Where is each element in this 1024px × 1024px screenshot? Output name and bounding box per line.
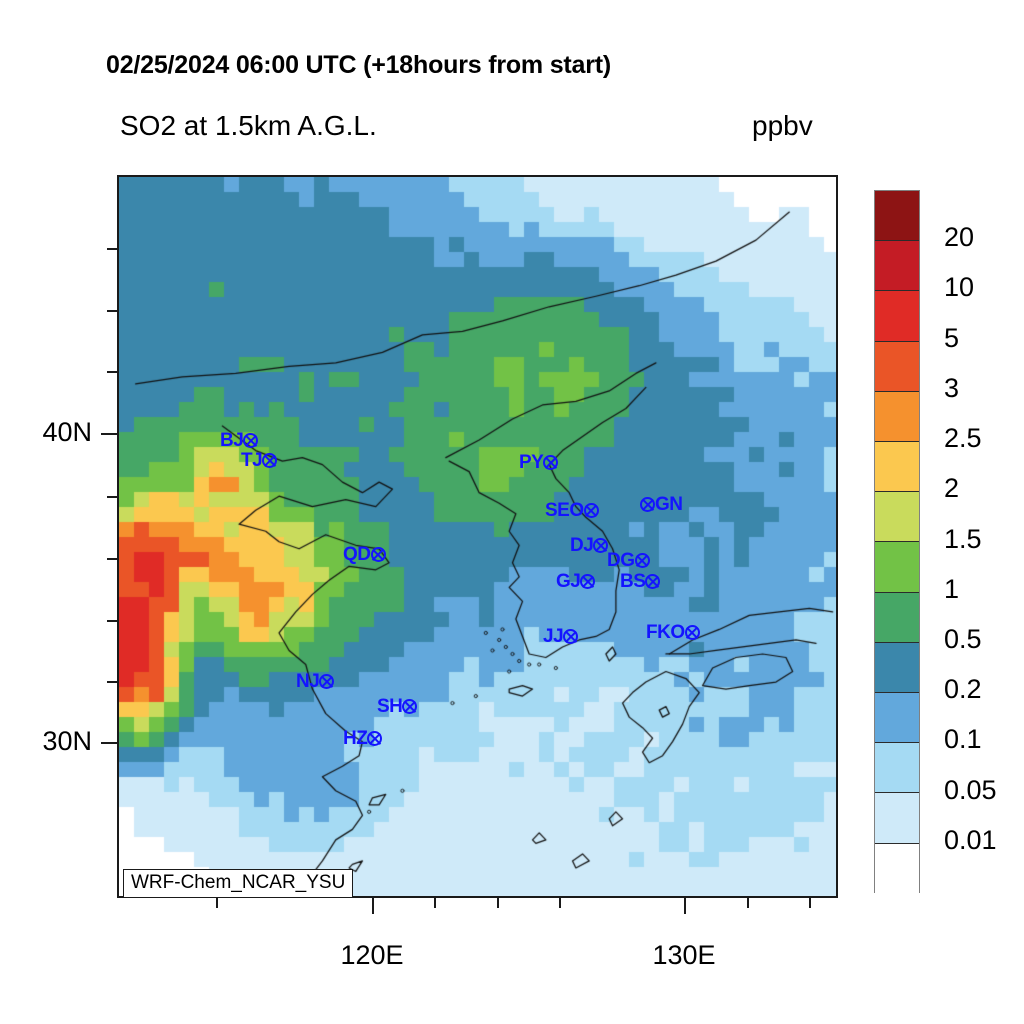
x-tick [372,898,374,914]
station-marker-nj[interactable]: NJ [296,672,334,691]
station-label-sh: SH [377,697,402,716]
station-cross-circle-icon [243,433,258,448]
station-marker-tj[interactable]: TJ [241,451,277,470]
colorbar-label-1.5: 1.5 [944,524,982,555]
y-tick [107,681,117,683]
colorbar-label-0.05: 0.05 [944,775,997,806]
y-tick [101,433,117,435]
station-cross-circle-icon [402,699,417,714]
colorbar-swatch-0 [875,191,919,241]
y-tick [107,496,117,498]
station-cross-circle-icon [371,547,386,562]
station-cross-circle-icon [580,574,595,589]
station-label-tj: TJ [241,451,262,470]
colorbar-swatch-4 [875,392,919,442]
x-tick [559,898,561,908]
colorbar-swatch-5 [875,442,919,492]
plot-subtitle: SO2 at 1.5km A.G.L. [120,110,377,142]
station-label-fko: FKO [646,623,685,642]
colorbar-label-2: 2 [944,473,959,504]
station-label-seo: SEO [545,501,584,520]
station-cross-circle-icon [543,455,558,470]
colorbar-label-3: 3 [944,373,959,404]
station-marker-py[interactable]: PY [519,453,558,472]
colorbar-swatch-7 [875,542,919,592]
station-label-nj: NJ [296,672,319,691]
colorbar-label-2.5: 2.5 [944,423,982,454]
station-marker-hz[interactable]: HZ [343,729,382,748]
page-title: 02/25/2024 06:00 UTC (+18hours from star… [106,51,611,80]
station-cross-circle-icon [563,629,578,644]
station-marker-seo[interactable]: SEO [545,501,599,520]
colorbar-swatch-11 [875,743,919,793]
station-label-bj: BJ [220,431,243,450]
colorbar-label-0.01: 0.01 [944,825,997,856]
station-label-gn: GN [655,495,683,514]
x-tick [809,898,811,908]
station-cross-circle-icon [262,453,277,468]
station-marker-gn[interactable]: GN [640,495,683,514]
station-marker-bj[interactable]: BJ [220,431,258,450]
station-marker-jj[interactable]: JJ [543,627,578,646]
colorbar-label-10: 10 [944,272,974,303]
station-label-hz: HZ [343,729,367,748]
station-label-dg: DG [607,551,635,570]
station-label-dj: DJ [570,536,593,555]
x-tick [684,898,686,914]
colorbar-label-1: 1 [944,574,959,605]
station-marker-bs[interactable]: BS [620,572,660,591]
station-marker-dg[interactable]: DG [607,551,650,570]
y-tick [107,620,117,622]
y-tick [107,248,117,250]
station-marker-gj[interactable]: GJ [556,572,595,591]
y-tick-label-30N: 30N [0,726,92,757]
colorbar-swatch-6 [875,492,919,542]
colorbar-swatch-10 [875,693,919,743]
station-marker-fko[interactable]: FKO [646,623,700,642]
colorbar-label-0.5: 0.5 [944,624,982,655]
x-tick [216,898,218,908]
station-cross-circle-icon [645,574,660,589]
x-tick [497,898,499,908]
station-cross-circle-icon [640,497,655,512]
station-label-jj: JJ [543,627,563,646]
colorbar-label-0.2: 0.2 [944,674,982,705]
station-cross-circle-icon [635,553,650,568]
x-tick-label-130E: 130E [639,940,729,971]
colorbar-label-0.1: 0.1 [944,724,982,755]
station-label-gj: GJ [556,572,580,591]
map-plot-area [117,175,838,898]
colorbar-swatch-1 [875,241,919,291]
station-cross-circle-icon [685,625,700,640]
station-marker-sh[interactable]: SH [377,697,417,716]
station-label-bs: BS [620,572,645,591]
colorbar-swatch-13 [875,844,919,894]
model-attribution-tag: WRF-Chem_NCAR_YSU [123,869,353,898]
colorbar-label-20: 20 [944,222,974,253]
x-tick [747,898,749,908]
y-tick [101,742,117,744]
station-cross-circle-icon [367,731,382,746]
units-label: ppbv [752,110,813,142]
x-tick-label-120E: 120E [327,940,417,971]
coastline-overlay [119,177,836,896]
y-tick-label-40N: 40N [0,417,92,448]
station-label-py: PY [519,453,543,472]
colorbar-swatch-2 [875,291,919,341]
station-cross-circle-icon [584,503,599,518]
y-tick [107,558,117,560]
colorbar-swatch-3 [875,342,919,392]
station-cross-circle-icon [319,674,334,689]
colorbar-swatch-9 [875,643,919,693]
station-marker-dj[interactable]: DJ [570,536,608,555]
colorbar-label-5: 5 [944,323,959,354]
y-tick [107,310,117,312]
station-marker-qd[interactable]: QD [343,545,386,564]
colorbar-swatch-12 [875,793,919,843]
colorbar-swatch-8 [875,593,919,643]
station-label-qd: QD [343,545,371,564]
x-tick [434,898,436,908]
y-tick [107,371,117,373]
colorbar [874,190,920,893]
